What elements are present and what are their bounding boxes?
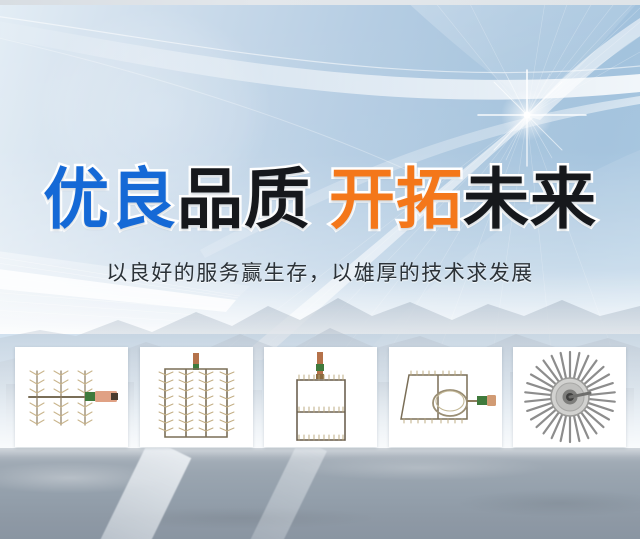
headline-part-3: 开拓 (329, 161, 463, 238)
concrete-ground-plane (0, 448, 640, 539)
promo-banner: 优良品质开拓未来 以良好的服务赢生存，以雄厚的技术求发展 (0, 0, 640, 539)
product-card-2[interactable] (140, 347, 253, 447)
star-light-flare (470, 62, 590, 172)
product-card-5[interactable] (513, 347, 626, 447)
headline-part-1: 优良 (43, 161, 177, 238)
top-strip (0, 0, 640, 5)
product-radial-heater-icon (522, 349, 618, 445)
product-thumbnail-row (15, 347, 626, 447)
product-bundle-heater-icon (153, 351, 239, 443)
product-card-1[interactable] (15, 347, 128, 447)
product-frame-heater-icon (283, 350, 359, 444)
page-title: 优良品质开拓未来 (0, 163, 640, 237)
headline-part-4: 未来 (463, 161, 597, 238)
product-coil-heater-icon (393, 361, 497, 433)
product-card-4[interactable] (389, 347, 502, 447)
page-subtitle: 以良好的服务赢生存，以雄厚的技术求发展 (0, 258, 640, 288)
product-comb-heater-icon (21, 357, 123, 437)
product-card-3[interactable] (264, 347, 377, 447)
headline-part-2: 品质 (177, 161, 311, 238)
